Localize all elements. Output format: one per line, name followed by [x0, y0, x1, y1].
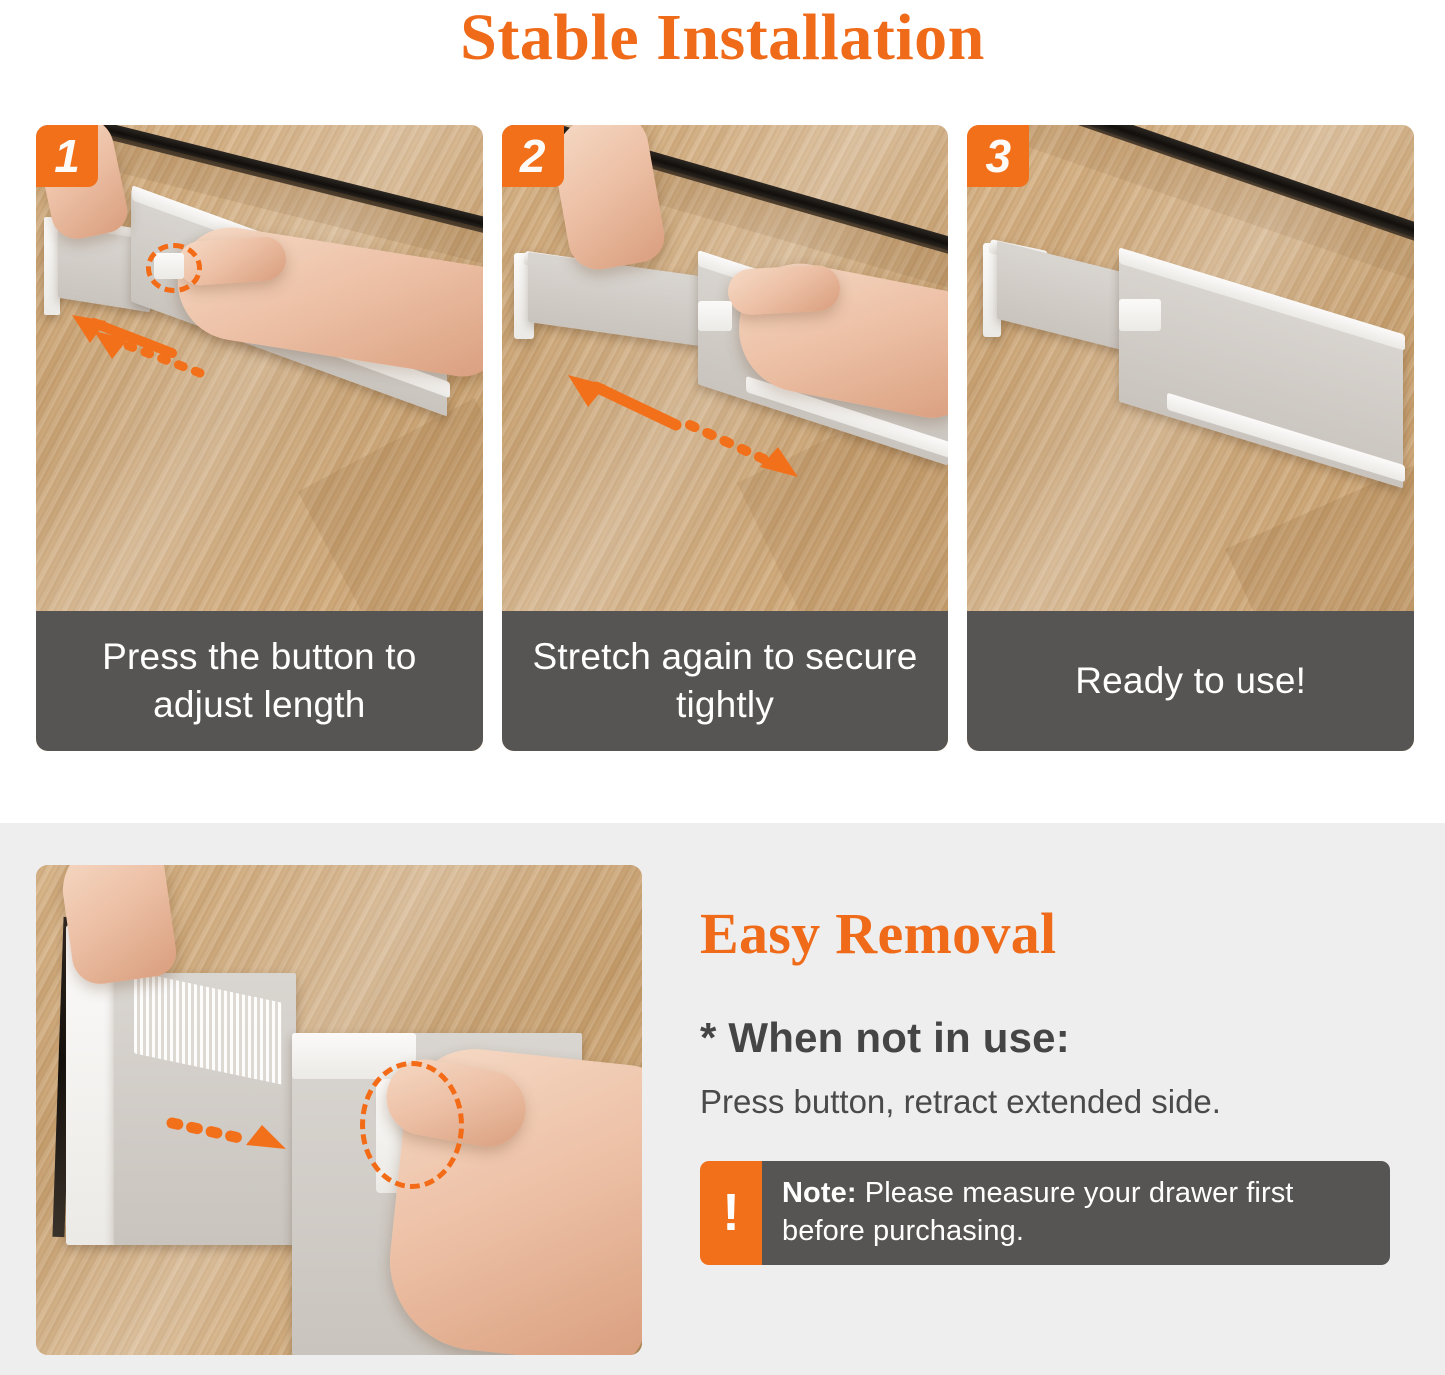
note-label: Note: [782, 1177, 857, 1209]
dashed-circle-button-icon [146, 243, 202, 293]
removal-wood-background [36, 865, 642, 1355]
page-title: Stable Installation [0, 2, 1445, 74]
finger-index [727, 264, 841, 316]
step-caption-1: Press the button to adjust length [36, 611, 483, 751]
step-caption-2: Stretch again to secure tightly [502, 611, 949, 751]
step-caption-3-text: Ready to use! [1075, 657, 1306, 705]
step-caption-2-text: Stretch again to secure tightly [524, 633, 927, 729]
step-panel-3: 3 Ready to use! [967, 125, 1414, 751]
step-badge-1: 1 [36, 125, 98, 187]
divider-joint [1119, 299, 1161, 331]
easy-removal-photo [36, 865, 642, 1355]
easy-removal-subhead: * When not in use: [700, 1013, 1390, 1063]
exclamation-icon: ! [700, 1161, 762, 1265]
step-panel-2: 2 Stretch again to secure tightly [502, 125, 949, 751]
easy-removal-text-block: Easy Removal * When not in use: Press bu… [700, 903, 1390, 1265]
stable-installation-section: Stable Installation [0, 0, 1445, 823]
steps-row: 1 Press the button to adjust length [36, 125, 1414, 751]
note-message: Please measure your drawer first before … [782, 1177, 1293, 1247]
easy-removal-body: Press button, retract extended side. [700, 1081, 1390, 1123]
release-button[interactable] [698, 301, 732, 331]
step-caption-1-text: Press the button to adjust length [58, 633, 461, 729]
step-panel-1: 1 Press the button to adjust length [36, 125, 483, 751]
note-box: ! Note: Please measure your drawer first… [700, 1161, 1390, 1265]
note-text: Note: Please measure your drawer first b… [762, 1161, 1390, 1265]
step-caption-3: Ready to use! [967, 611, 1414, 751]
step-badge-2: 2 [502, 125, 564, 187]
hand-left-finger [57, 865, 179, 988]
dashed-circle-button-icon [360, 1061, 464, 1189]
step-badge-3: 3 [967, 125, 1029, 187]
easy-removal-section: Easy Removal * When not in use: Press bu… [0, 823, 1445, 1375]
easy-removal-title: Easy Removal [700, 903, 1390, 965]
